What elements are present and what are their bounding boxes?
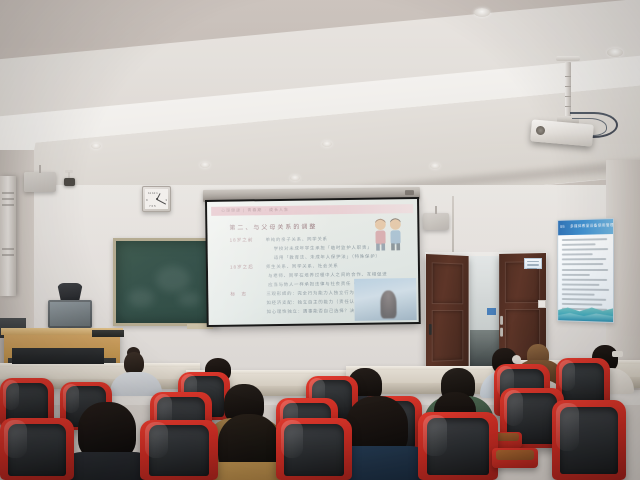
screen-glare	[207, 199, 377, 325]
auditorium-seat[interactable]	[0, 418, 74, 480]
door-bolt-icon[interactable]	[500, 316, 503, 325]
slide-row-text: 如心理性独立：遇事能否自己选择？决策力	[267, 308, 366, 315]
projection-screen-surface: 心理健康 | 青春期 · 成长人生 第二、与父母关系的调整 18岁之前 单纯的亲…	[207, 199, 419, 325]
poster-title: 多媒体教室设备使用管理规范	[570, 223, 614, 229]
poster-body	[562, 238, 609, 306]
slide-topbar-text: 心理健康 | 青春期 · 成长人生	[221, 207, 289, 214]
information-poster: 规范 多媒体教室设备使用管理规范	[557, 218, 614, 323]
recessed-downlight-icon	[322, 141, 332, 147]
slide-row-text: 单纯的亲子关系、同学关系	[266, 236, 328, 243]
slide-title-bar: 心理健康 | 青春期 · 成长人生	[211, 204, 413, 216]
chalkboard	[113, 238, 219, 326]
recessed-downlight-icon	[200, 162, 210, 168]
clock-face: 11 12 1 9 3 7 6 5	[145, 189, 168, 209]
projection-screen: 心理健康 | 青春期 · 成长人生 第二、与父母关系的调整 18岁之前 单纯的亲…	[205, 197, 421, 327]
recessed-downlight-icon	[430, 163, 440, 169]
auditorium-seat[interactable]	[140, 420, 218, 480]
projector-ceiling-plate	[556, 56, 580, 61]
seat-armrest	[492, 448, 538, 468]
auditorium-seat[interactable]	[276, 418, 352, 480]
door-leaf-left[interactable]	[426, 254, 469, 370]
door-bolt-icon[interactable]	[500, 328, 503, 337]
air-conditioner	[0, 176, 16, 296]
poster-header: 规范 多媒体教室设备使用管理规范	[558, 219, 613, 235]
slide-row-text: 适用「教育法、未成年人保护法」（特殊保护）	[274, 254, 381, 261]
wall-clock: 11 12 1 9 3 7 6 5	[142, 186, 171, 212]
recessed-downlight-icon	[290, 175, 300, 181]
slide-photo-thumbnail	[354, 278, 417, 321]
slide-row-label: 18岁之前	[230, 237, 254, 243]
slide-row-label: 标 志	[230, 291, 247, 297]
two-person-cartoon-icon	[369, 217, 407, 252]
wall-speaker-right	[423, 213, 449, 230]
clock-minute-hand	[156, 199, 165, 205]
wall-speaker-left	[24, 172, 56, 192]
recessed-downlight-icon	[474, 8, 490, 17]
presenter-chair	[57, 283, 83, 300]
slide-row-text: 学校对未成年学生承担「临时监护人职责」	[274, 245, 373, 252]
door-handle-icon[interactable]	[429, 324, 432, 335]
security-camera-icon	[64, 178, 75, 186]
slide-row-text: 师生关系、同学关系、社会关系	[266, 263, 339, 270]
slide-row-text: 三观形成的：完全行为能力人独立行为能力	[266, 290, 365, 297]
corridor-sign-icon	[487, 308, 496, 315]
wall-outlet	[538, 300, 546, 308]
poster-badge: 规范	[560, 225, 565, 229]
podium-monitor	[48, 300, 92, 328]
screen-pull-knob[interactable]	[405, 190, 414, 195]
auditorium-seat[interactable]	[552, 400, 626, 480]
slide-heading: 第二、与父母关系的调整	[229, 221, 317, 231]
recessed-downlight-icon	[607, 48, 623, 57]
chalkboard-surface	[116, 241, 216, 323]
slide-row-label: 18岁之后	[230, 264, 254, 270]
slide-row-text: 如经济支配：独立自主的能力（责任认同）	[266, 299, 365, 306]
lecture-hall-photo: 11 12 1 9 3 7 6 5 心理健康 | 青春期 · 成长人生 第二、与…	[0, 0, 640, 480]
door-placard	[524, 258, 542, 269]
podium-keyboard	[92, 330, 124, 337]
desk-monitor-panel	[12, 348, 104, 364]
recessed-downlight-icon	[91, 143, 101, 149]
auditorium-seat[interactable]	[418, 412, 498, 480]
